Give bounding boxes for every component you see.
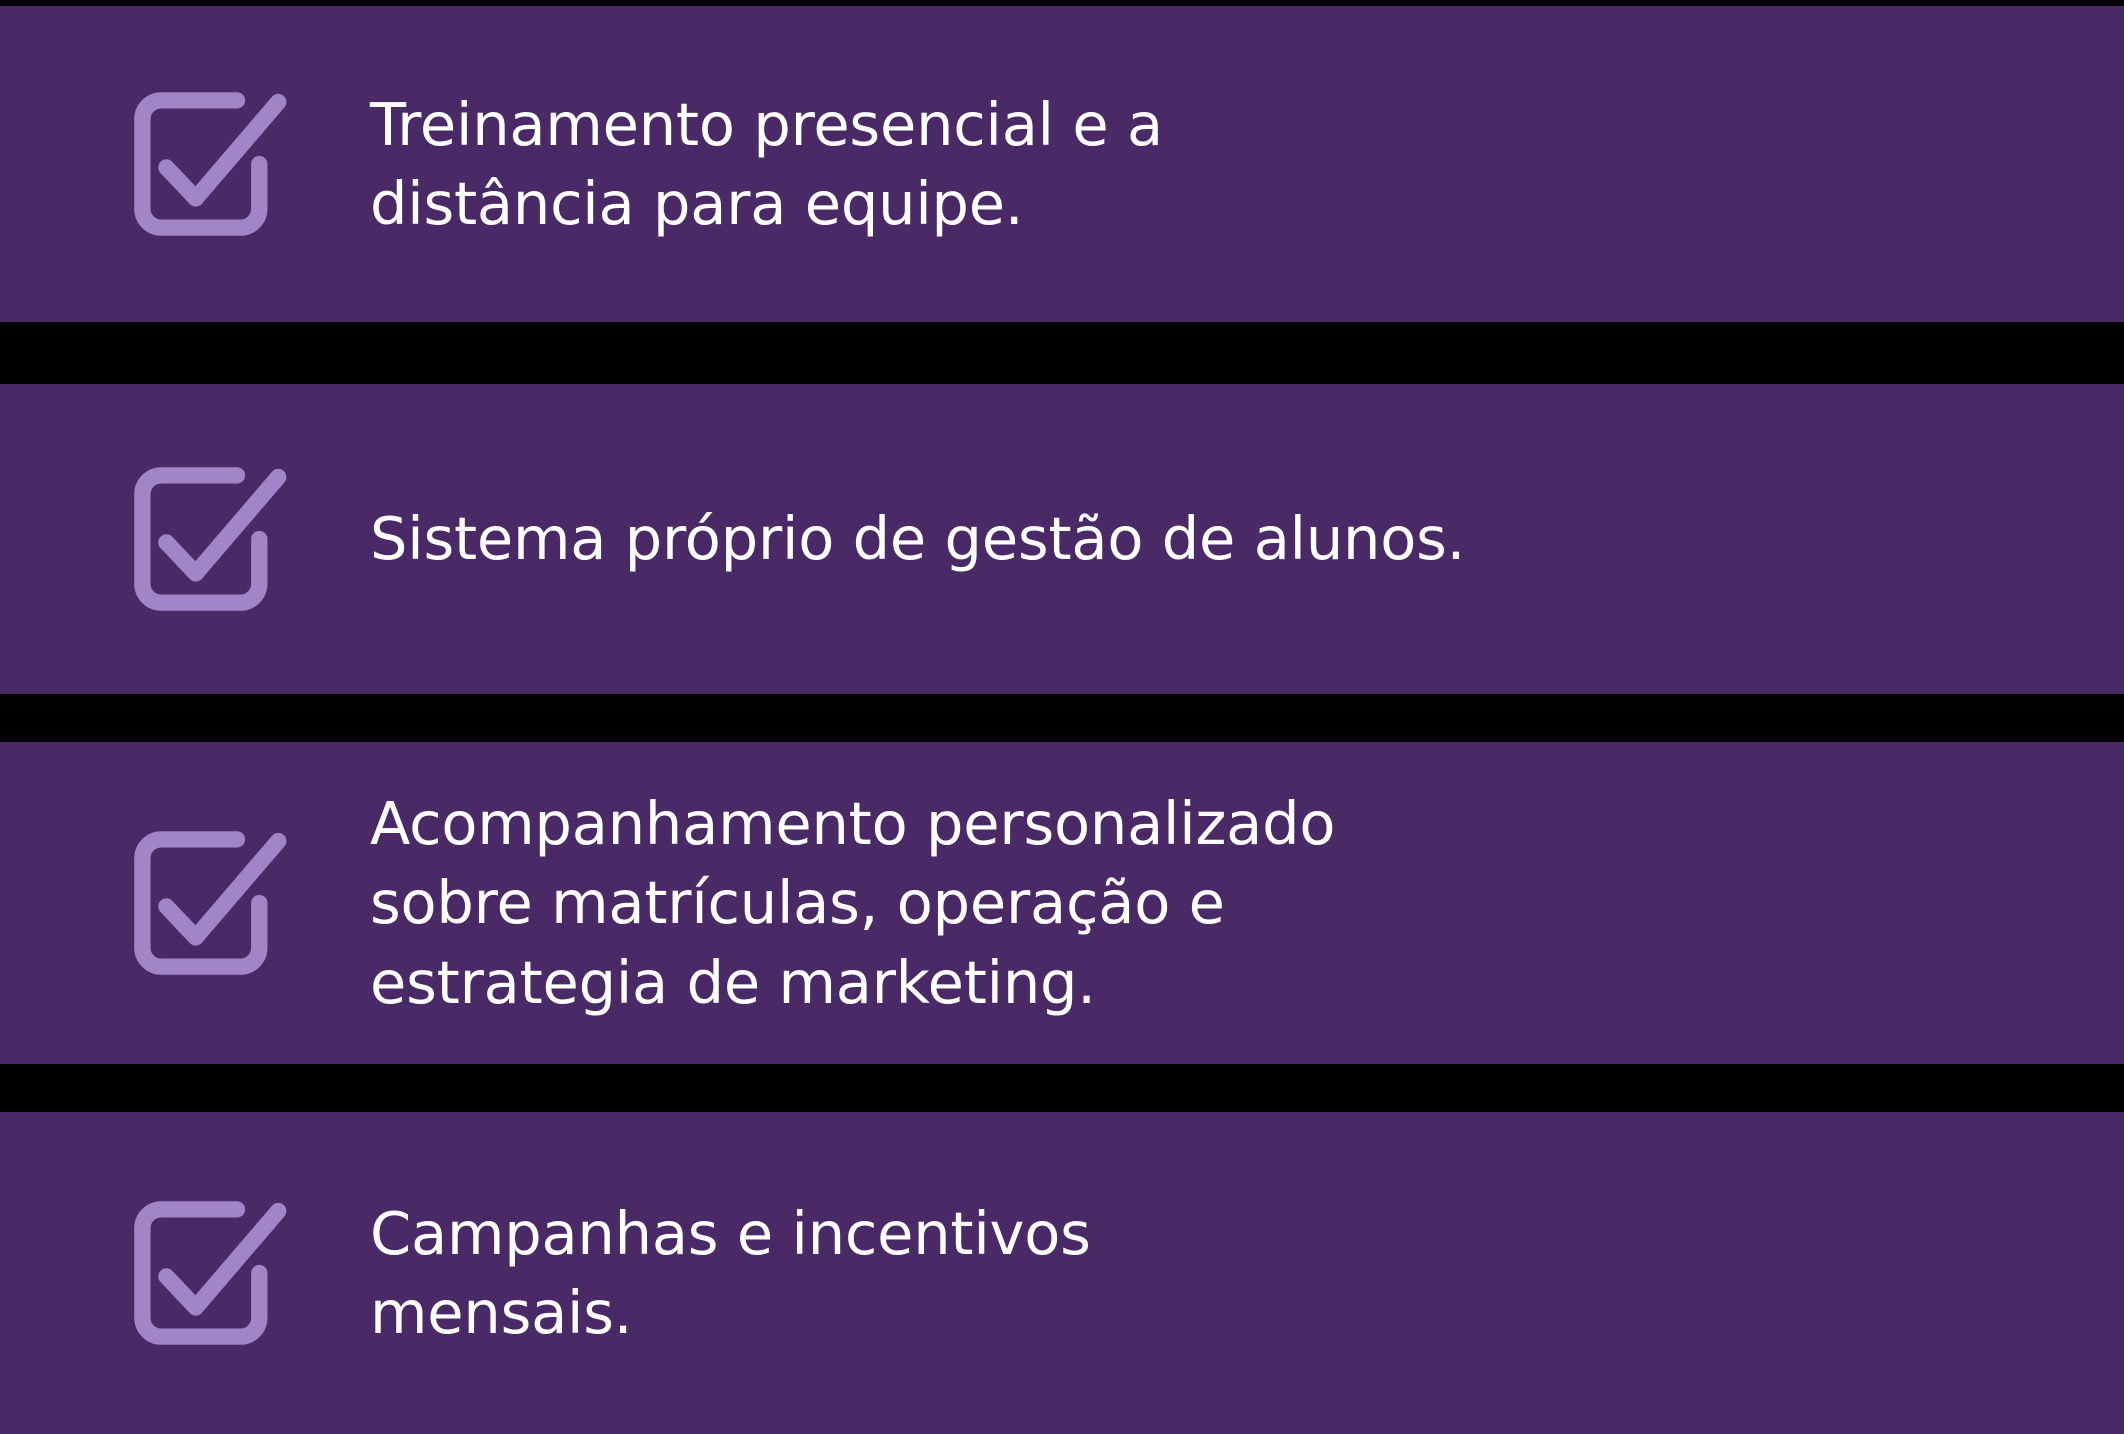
benefit-card: Treinamento presencial e a distância par… [0,6,2124,322]
benefit-text: Campanhas e incentivos mensais. [370,1194,1091,1352]
checkbox-checked-icon [120,817,292,989]
benefit-text: Acompanhamento personalizado sobre matrí… [370,784,1335,1021]
checkbox-checked-icon [120,78,292,250]
benefit-card: Sistema próprio de gestão de alunos. [0,384,2124,694]
benefit-card: Acompanhamento personalizado sobre matrí… [0,742,2124,1064]
checkbox-checked-icon [120,1187,292,1359]
checkbox-checked-icon [120,453,292,625]
benefit-text: Treinamento presencial e a distância par… [370,85,1163,243]
benefit-card: Campanhas e incentivos mensais. [0,1112,2124,1434]
benefit-text: Sistema próprio de gestão de alunos. [370,499,1465,578]
benefits-list: Treinamento presencial e a distância par… [0,0,2124,1428]
